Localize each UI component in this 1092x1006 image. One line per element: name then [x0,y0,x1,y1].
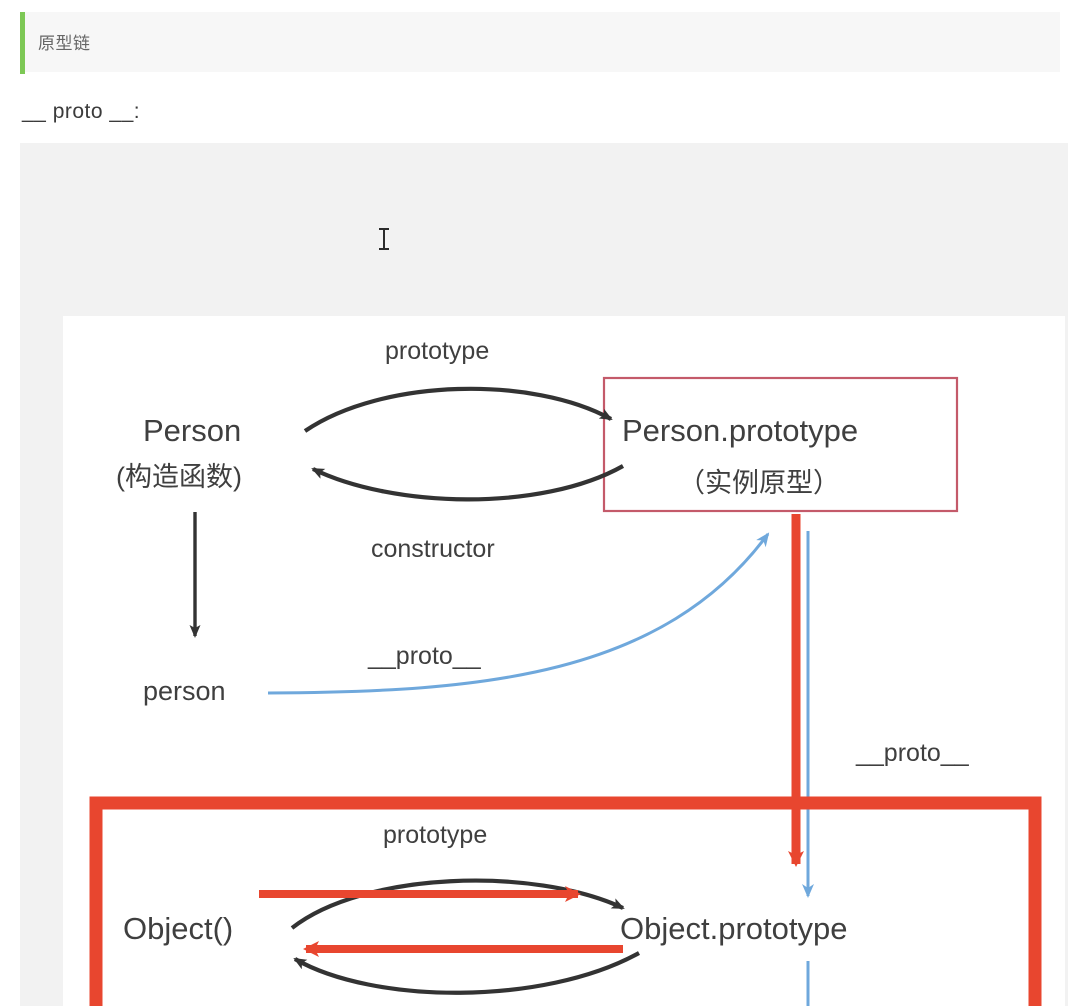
prototype-chain-diagram: prototype constructor Person (构造函数) Pers… [63,316,1065,1006]
object-group-box [96,803,1035,1006]
caption-text: __ proto __: [22,100,140,124]
label-proto-person-prototype: __proto__ [855,739,970,767]
node-person-prototype-line2: （实例原型） [678,468,840,498]
page-root: 原型链 __ proto __: [0,0,1092,1006]
prototype-arrow-object [292,881,623,928]
node-object-ctor: Object() [123,911,233,946]
constructor-arrow-person [313,466,623,499]
node-object-prototype: Object.prototype [620,911,847,946]
label-prototype-person: prototype [385,337,489,365]
section-header-bar [20,12,1060,72]
person-proto-arrow [268,534,768,693]
text-caret-cursor [383,228,385,250]
node-person-instance: person [143,676,226,706]
node-person-line1: Person [143,413,241,448]
figure-container: prototype constructor Person (构造函数) Pers… [20,143,1068,1006]
node-person-line2: (构造函数) [116,462,242,492]
node-person-prototype-line1: Person.prototype [622,413,858,448]
header-accent-bar [20,12,25,74]
constructor-arrow-object [295,953,639,993]
label-constructor-person: constructor [371,535,495,563]
prototype-arrow-person [305,389,611,431]
label-proto-person: __proto__ [367,642,482,670]
page-title: 原型链 [38,29,91,54]
diagram-image: prototype constructor Person (构造函数) Pers… [63,316,1065,1006]
label-prototype-object: prototype [383,821,487,849]
